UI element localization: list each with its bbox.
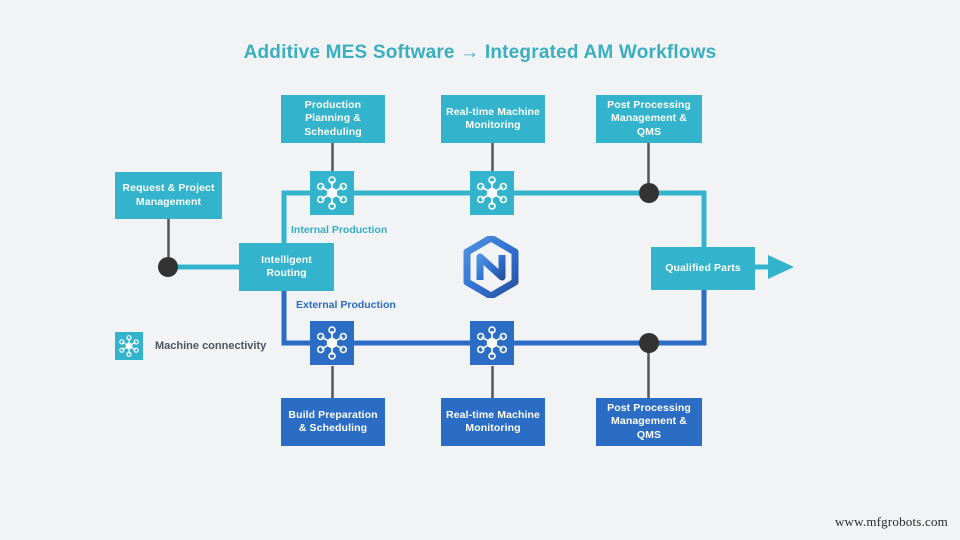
node-label: Production Planning & Scheduling — [285, 99, 381, 140]
node-request-project-management[interactable]: Request & Project Management — [115, 172, 222, 219]
machine-connectivity-icon — [470, 171, 514, 215]
node-post-processing-qms-bottom[interactable]: Post Processing Management & QMS — [596, 398, 702, 446]
legend-machine-connectivity-icon — [115, 332, 143, 360]
node-build-preparation-scheduling[interactable]: Build Preparation & Scheduling — [281, 398, 385, 446]
node-production-planning-scheduling[interactable]: Production Planning & Scheduling — [281, 95, 385, 143]
machine-connectivity-icon — [115, 332, 143, 360]
node-post-processing-qms-top[interactable]: Post Processing Management & QMS — [596, 95, 702, 143]
junction-dot-request — [158, 257, 178, 277]
machine-connectivity-icon — [310, 321, 354, 365]
arrow-right-icon — [768, 255, 794, 279]
edge-label-internal-production: Internal Production — [291, 224, 387, 236]
node-qualified-parts[interactable]: Qualified Parts — [651, 247, 755, 290]
node-label: Post Processing Management & QMS — [600, 402, 698, 443]
edge-label-external-production: External Production — [296, 299, 396, 311]
node-label: Real-time Machine Monitoring — [445, 409, 541, 436]
machine-connectivity-icon — [470, 321, 514, 365]
legend-label: Machine connectivity — [155, 340, 266, 352]
machine-connectivity-icon-internal-monitoring[interactable] — [470, 171, 514, 215]
legend: Machine connectivity — [115, 332, 266, 360]
machine-connectivity-icon-internal-planning[interactable] — [310, 171, 354, 215]
node-label: Qualified Parts — [665, 262, 741, 276]
machine-connectivity-icon — [310, 171, 354, 215]
machine-connectivity-icon-external-monitoring[interactable] — [470, 321, 514, 365]
node-intelligent-routing[interactable]: Intelligent Routing — [239, 243, 334, 291]
node-label: Build Preparation & Scheduling — [285, 409, 381, 436]
node-realtime-machine-monitoring-top[interactable]: Real-time Machine Monitoring — [441, 95, 545, 143]
hexagon-n-logo-glyph — [460, 236, 522, 298]
machine-connectivity-icon-external-build[interactable] — [310, 321, 354, 365]
diagram-canvas: Additive MES Software → Integrated AM Wo… — [0, 0, 960, 540]
junction-dot-external-output — [639, 333, 659, 353]
node-label: Intelligent Routing — [243, 254, 330, 281]
watermark: www.mfgrobots.com — [835, 514, 948, 530]
node-label: Post Processing Management & QMS — [600, 99, 698, 140]
node-label: Request & Project Management — [119, 182, 218, 209]
node-realtime-machine-monitoring-bottom[interactable]: Real-time Machine Monitoring — [441, 398, 545, 446]
hexagon-n-logo — [460, 236, 522, 298]
junction-dot-internal-output — [639, 183, 659, 203]
node-label: Real-time Machine Monitoring — [445, 106, 541, 133]
